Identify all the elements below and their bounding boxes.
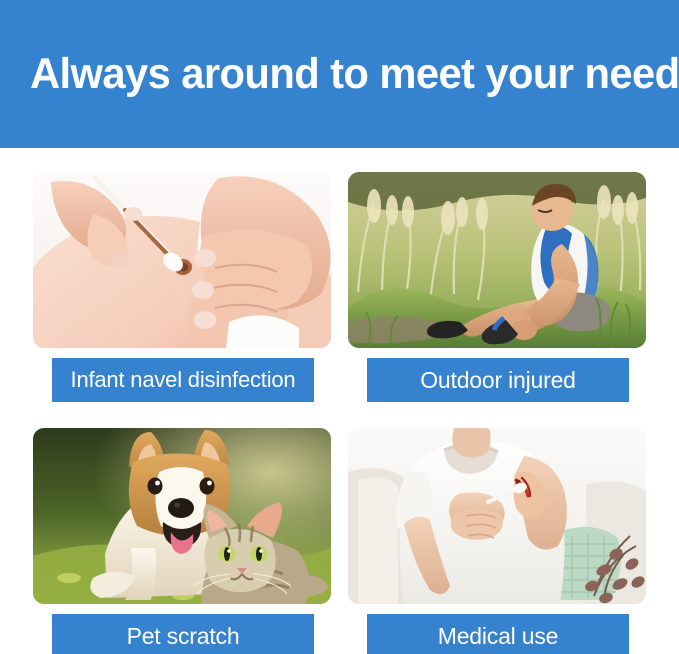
use-case-grid: Infant navel disinfection <box>0 148 679 654</box>
page-title: Always around to meet your needs <box>30 53 679 96</box>
header-banner: Always around to meet your needs <box>0 0 679 148</box>
product-feature-panel: Always around to meet your needs <box>0 0 679 654</box>
use-case-caption: Medical use <box>367 614 629 654</box>
use-case-card-medical-use[interactable]: Medical use <box>335 428 655 654</box>
medical-use-photo <box>348 428 646 604</box>
pet-scratch-photo <box>33 428 331 604</box>
infant-navel-disinfection-photo <box>33 172 331 348</box>
outdoor-injured-photo <box>348 172 646 348</box>
use-case-card-pet-scratch[interactable]: Pet scratch <box>20 428 340 654</box>
use-case-card-outdoor-injured[interactable]: Outdoor injured <box>335 172 655 402</box>
use-case-caption: Pet scratch <box>52 614 314 654</box>
use-case-caption: Infant navel disinfection <box>52 358 314 402</box>
use-case-caption: Outdoor injured <box>367 358 629 402</box>
use-case-card-infant-navel-disinfection[interactable]: Infant navel disinfection <box>20 172 340 402</box>
